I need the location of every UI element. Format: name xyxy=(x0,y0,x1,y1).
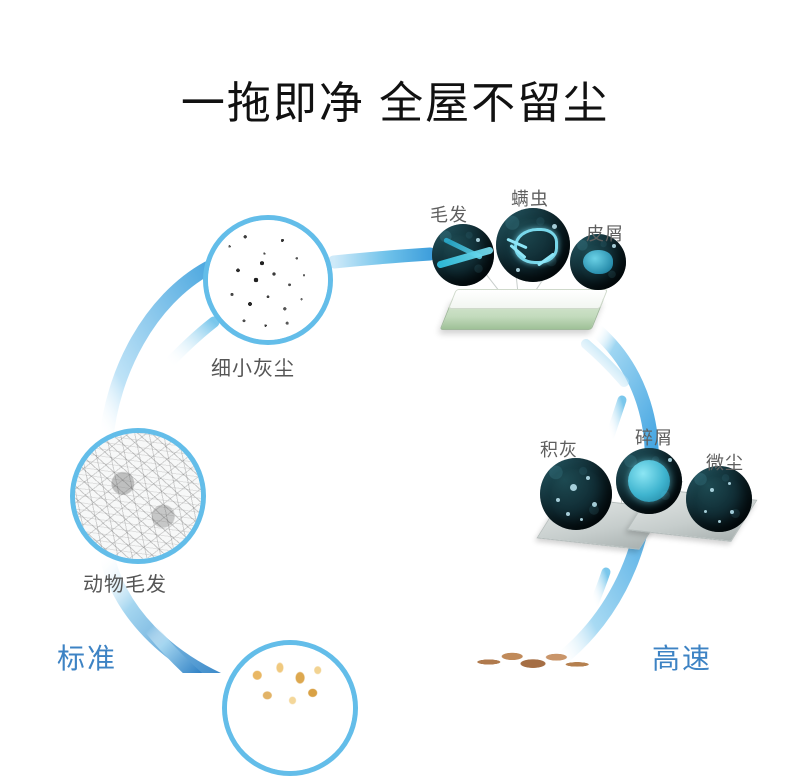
micro-circle-dust-buildup xyxy=(540,458,612,530)
magnifier-label-fine-dust: 细小灰尘 xyxy=(211,352,295,381)
mode-label-standard: 标准 xyxy=(57,637,117,677)
diagram-canvas: 一拖即净 全屋不留尘 xyxy=(0,0,790,673)
scene-label-dust-buildup: 积灰 xyxy=(540,436,578,462)
micro-circle-hair xyxy=(432,224,494,286)
micro-circle-debris xyxy=(616,448,682,514)
food-crumbs-sample xyxy=(227,645,353,771)
mode-label-high-speed: 高速 xyxy=(652,637,712,677)
fine-dust-sample xyxy=(208,220,328,340)
scene-label-debris: 碎屑 xyxy=(635,424,673,450)
magnifier-fine-dust xyxy=(203,215,333,345)
scene-label-dander: 皮屑 xyxy=(586,220,624,246)
scene-mattress: 毛发 螨虫 皮屑 xyxy=(418,186,648,361)
nuts-cluster xyxy=(468,646,598,686)
scene-label-micro-dust: 微尘 xyxy=(706,449,744,475)
scene-label-dust-mite: 螨虫 xyxy=(511,185,549,211)
magnifier-label-animal-hair: 动物毛发 xyxy=(83,568,167,597)
mattress-top xyxy=(448,289,608,309)
magnifier-food-crumbs xyxy=(222,640,358,776)
scene-floor: 积灰 碎屑 微尘 xyxy=(528,424,763,579)
magnifier-animal-hair xyxy=(70,428,206,564)
scene-label-hair: 毛发 xyxy=(430,201,468,227)
animal-hair-sample xyxy=(75,433,201,559)
page-title: 一拖即净 全屋不留尘 xyxy=(0,78,790,131)
micro-circle-dust-mite xyxy=(496,208,570,282)
micro-circle-micro-dust xyxy=(686,466,752,532)
